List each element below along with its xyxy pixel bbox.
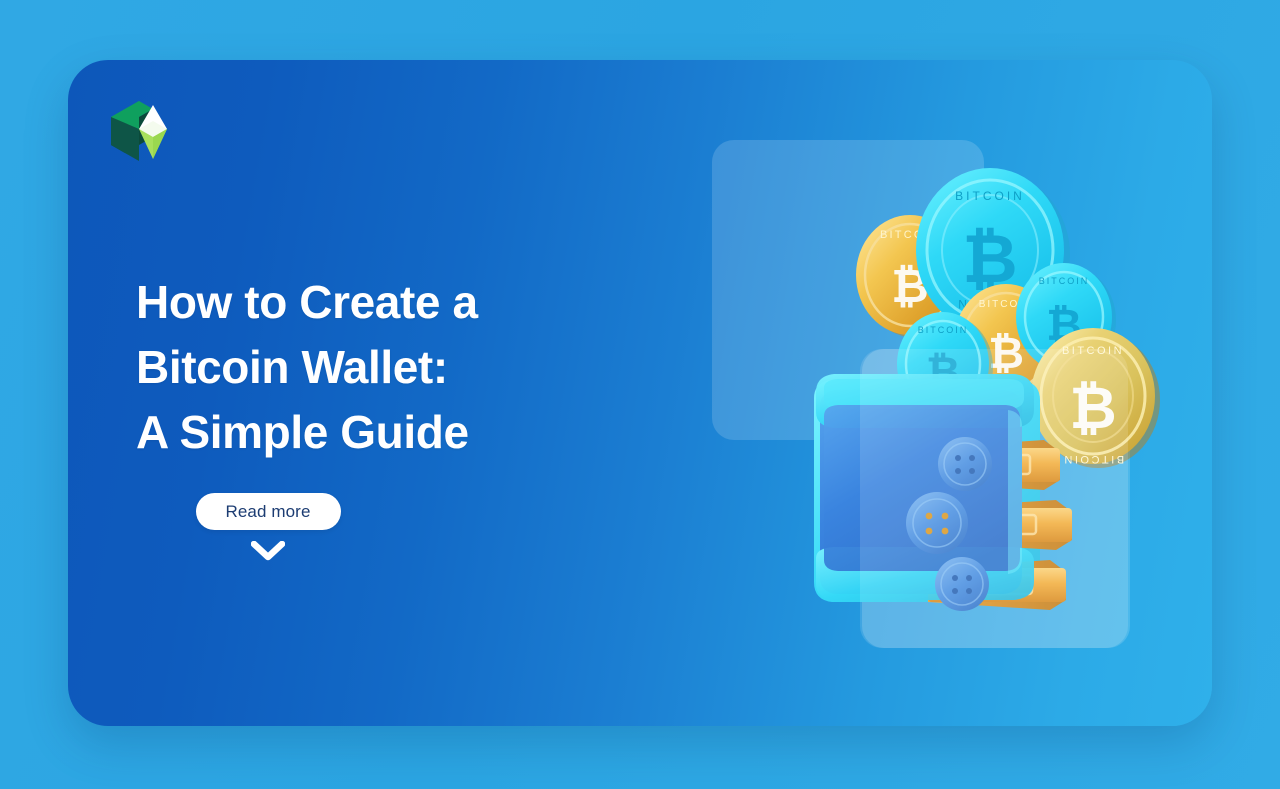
bitcoin-wallet-3d-illustration: BITCOIN ₿ BITCOIN BITCOIN ₿ (768, 130, 1168, 690)
cta-group: Read more (136, 493, 400, 562)
page-title: How to Create a Bitcoin Wallet: A Simple… (136, 270, 606, 465)
chevron-down-icon[interactable] (251, 541, 285, 562)
svg-text:BITCOIN: BITCOIN (918, 325, 969, 335)
svg-text:BITCOIN: BITCOIN (955, 189, 1025, 203)
page-background: How to Create a Bitcoin Wallet: A Simple… (0, 0, 1280, 789)
hero-card: How to Create a Bitcoin Wallet: A Simple… (68, 60, 1212, 726)
brand-cube-logo[interactable] (103, 95, 175, 167)
read-more-button[interactable]: Read more (196, 493, 341, 530)
svg-text:BITCOIN: BITCOIN (1039, 276, 1090, 286)
hero-content: How to Create a Bitcoin Wallet: A Simple… (136, 270, 606, 562)
